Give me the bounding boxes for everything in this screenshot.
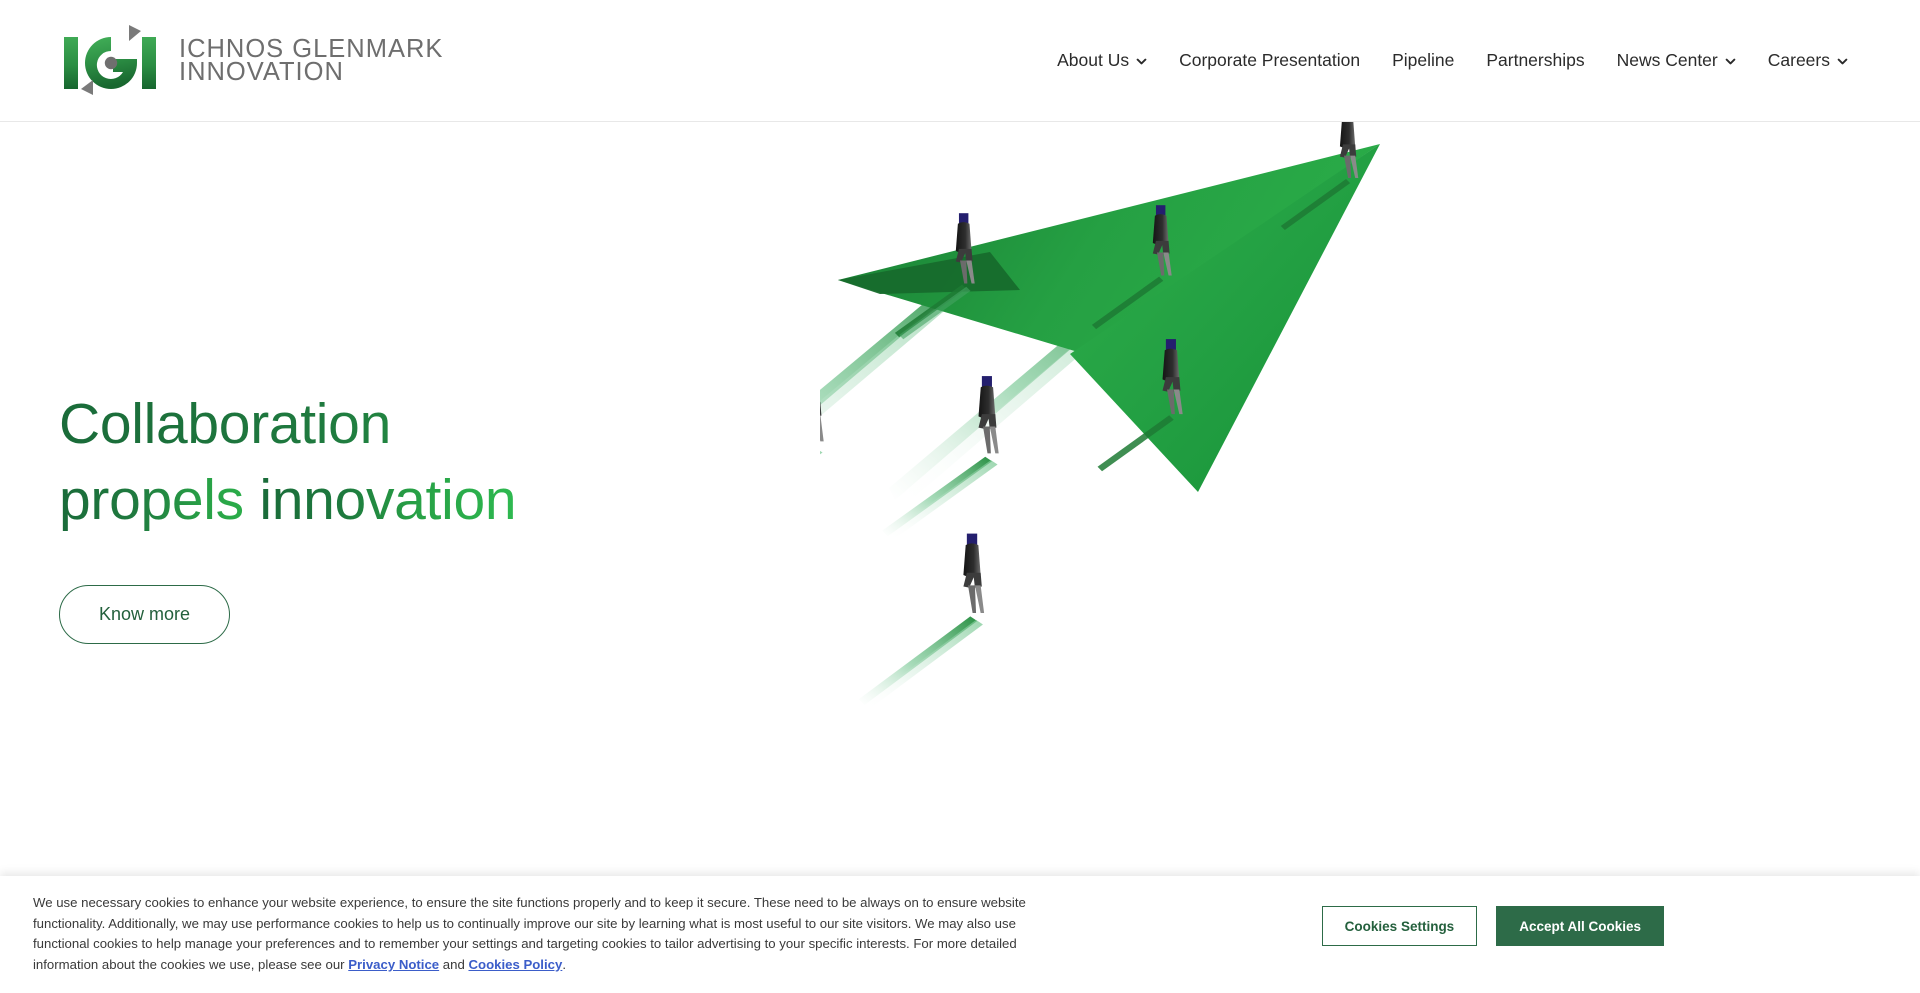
- walking-figure: [820, 364, 824, 528]
- privacy-notice-link[interactable]: Privacy Notice: [348, 957, 439, 972]
- nav-label: Corporate Presentation: [1179, 50, 1360, 71]
- green-arrow-shape: [838, 144, 1380, 492]
- cookie-body-and: and: [439, 957, 468, 972]
- motion-trails: [820, 174, 1356, 513]
- figure-group-on-arrow: [895, 122, 1358, 471]
- chevron-down-icon: [1136, 56, 1147, 67]
- site-logo[interactable]: ICHNOS GLENMARK INNOVATION: [59, 23, 443, 99]
- cookies-settings-button[interactable]: Cookies Settings: [1322, 906, 1478, 946]
- nav-item-news-center[interactable]: News Center: [1601, 44, 1752, 77]
- nav-label: Partnerships: [1486, 50, 1584, 71]
- hero-headline-line2-part1: propels: [59, 468, 259, 532]
- main-navigation: About Us Corporate Presentation Pipeline…: [1041, 44, 1864, 77]
- chevron-down-icon: [1837, 56, 1848, 67]
- page-root: ICHNOS GLENMARK INNOVATION About Us Corp…: [0, 0, 1920, 993]
- accept-all-cookies-button[interactable]: Accept All Cookies: [1496, 906, 1664, 946]
- nav-item-careers[interactable]: Careers: [1752, 44, 1864, 77]
- hero-headline-line1: Collaboration: [59, 387, 759, 463]
- logo-wordmark-line2: INNOVATION: [179, 61, 443, 84]
- nav-label: News Center: [1617, 50, 1718, 71]
- nav-label: About Us: [1057, 50, 1129, 71]
- walking-figure: [1092, 205, 1172, 329]
- igi-logo-mark-icon: [59, 23, 163, 99]
- walking-figure: [882, 376, 998, 540]
- cookie-banner-actions: Cookies Settings Accept All Cookies: [1322, 906, 1664, 946]
- nav-item-pipeline[interactable]: Pipeline: [1376, 44, 1470, 77]
- walking-figure: [1098, 339, 1183, 471]
- nav-label: Careers: [1768, 50, 1830, 71]
- site-header: ICHNOS GLENMARK INNOVATION About Us Corp…: [0, 0, 1920, 122]
- cookie-banner-text: We use necessary cookies to enhance your…: [33, 893, 1043, 975]
- nav-label: Pipeline: [1392, 50, 1454, 71]
- nav-item-about-us[interactable]: About Us: [1041, 44, 1163, 77]
- nav-item-partnerships[interactable]: Partnerships: [1470, 44, 1600, 77]
- nav-item-corporate-presentation[interactable]: Corporate Presentation: [1163, 44, 1376, 77]
- hero-headline-line2-part2: innovation: [259, 468, 516, 532]
- figure-group-on-ground: [820, 364, 999, 708]
- hero-headline: Collaboration propels innovation: [59, 387, 759, 539]
- chevron-down-icon: [1725, 56, 1736, 67]
- hero-illustration: [820, 122, 1920, 877]
- walking-figure: [1281, 122, 1359, 230]
- hero-copy: Collaboration propels innovation Know mo…: [59, 387, 759, 644]
- logo-wordmark: ICHNOS GLENMARK INNOVATION: [179, 37, 443, 84]
- hero-section: Collaboration propels innovation Know mo…: [0, 122, 1920, 877]
- cookie-consent-banner: We use necessary cookies to enhance your…: [0, 876, 1920, 993]
- cookie-body-period: .: [562, 957, 566, 972]
- walking-figure: [859, 534, 984, 709]
- cookies-policy-link[interactable]: Cookies Policy: [468, 957, 562, 972]
- know-more-button[interactable]: Know more: [59, 585, 230, 644]
- walking-figure: [895, 213, 975, 339]
